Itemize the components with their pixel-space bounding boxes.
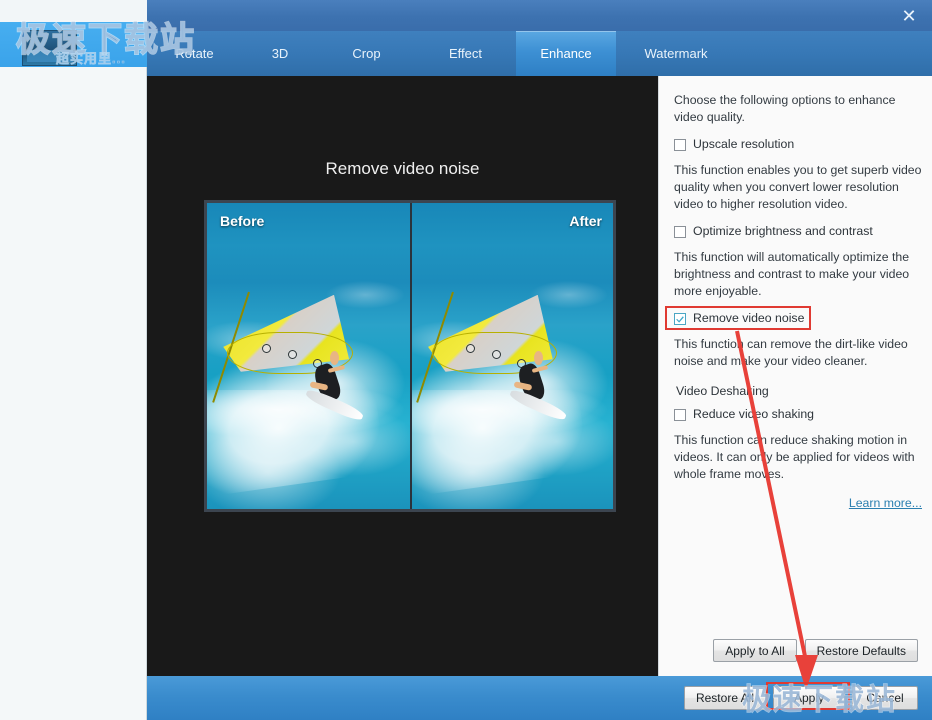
apply-button[interactable]: Apply <box>773 686 845 710</box>
group-label-video-deshaking: Video Deshaking <box>676 384 922 398</box>
preview-pane-after: After <box>410 203 613 509</box>
cancel-button[interactable]: Cancel <box>852 686 918 710</box>
checkbox-row-reduce-video-shaking[interactable]: Reduce video shaking <box>674 407 922 422</box>
checkbox-optimize-brightness[interactable] <box>674 226 686 238</box>
learn-more-link[interactable]: Learn more... <box>849 496 922 510</box>
tab-rotate[interactable]: Rotate <box>147 31 242 76</box>
checkbox-row-upscale-resolution[interactable]: Upscale resolution <box>674 137 922 152</box>
checkbox-label-upscale-resolution: Upscale resolution <box>693 137 794 152</box>
before-after-comparison: Before <box>204 200 616 512</box>
tab-effect[interactable]: Effect <box>415 31 516 76</box>
before-label: Before <box>220 213 264 229</box>
tab-watermark[interactable]: Watermark <box>616 31 736 76</box>
tab-crop[interactable]: Crop <box>318 31 415 76</box>
enhance-options-panel: Choose the following options to enhance … <box>658 76 932 676</box>
restore-defaults-button[interactable]: Restore Defaults <box>805 639 918 662</box>
checkbox-label-reduce-video-shaking: Reduce video shaking <box>693 407 814 422</box>
description-remove-video-noise: This function can remove the dirt-like v… <box>674 336 922 370</box>
preview-title: Remove video noise <box>147 159 658 179</box>
rider-head <box>534 351 543 365</box>
preview-pane-before: Before <box>207 203 410 509</box>
checkbox-label-remove-video-noise: Remove video noise <box>693 311 804 326</box>
background-video-thumbnail <box>22 30 77 66</box>
after-label: After <box>569 213 602 229</box>
options-intro-text: Choose the following options to enhance … <box>674 92 922 126</box>
learn-more-container: Learn more... <box>674 494 922 512</box>
background-left-panel <box>0 36 147 720</box>
edit-dialog: Edit ✕ Rotate 3D Crop Effect Enhance Wat… <box>147 0 932 720</box>
checkbox-remove-video-noise[interactable] <box>674 313 686 325</box>
options-content: Choose the following options to enhance … <box>674 92 922 512</box>
close-icon[interactable]: ✕ <box>886 0 932 31</box>
tab-list: Rotate 3D Crop Effect Enhance Watermark <box>147 31 736 76</box>
footer-bar: Restore All Apply Cancel <box>147 676 932 720</box>
tab-enhance[interactable]: Enhance <box>516 31 616 76</box>
preview-area: Remove video noise <box>147 76 658 676</box>
options-button-row: Apply to All Restore Defaults <box>713 639 918 662</box>
apply-to-all-button[interactable]: Apply to All <box>713 639 796 662</box>
tab-bar: Rotate 3D Crop Effect Enhance Watermark <box>147 31 932 76</box>
rider-head <box>330 351 339 365</box>
checkbox-upscale-resolution[interactable] <box>674 139 686 151</box>
app-root: Edit ✕ Rotate 3D Crop Effect Enhance Wat… <box>0 0 932 720</box>
checkbox-row-remove-video-noise[interactable]: Remove video noise <box>674 311 922 326</box>
description-optimize-brightness: This function will automatically optimiz… <box>674 249 922 300</box>
footer-button-row: Restore All Apply Cancel <box>684 686 918 710</box>
description-reduce-video-shaking: This function can reduce shaking motion … <box>674 432 922 483</box>
title-bar: Edit ✕ <box>147 0 932 31</box>
description-upscale-resolution: This function enables you to get superb … <box>674 162 922 213</box>
tab-3d[interactable]: 3D <box>242 31 318 76</box>
dialog-body: Remove video noise <box>147 76 932 676</box>
checkbox-reduce-video-shaking[interactable] <box>674 409 686 421</box>
checkbox-row-optimize-brightness[interactable]: Optimize brightness and contrast <box>674 224 922 239</box>
restore-all-button[interactable]: Restore All <box>684 686 766 710</box>
checkbox-label-optimize-brightness: Optimize brightness and contrast <box>693 224 873 239</box>
